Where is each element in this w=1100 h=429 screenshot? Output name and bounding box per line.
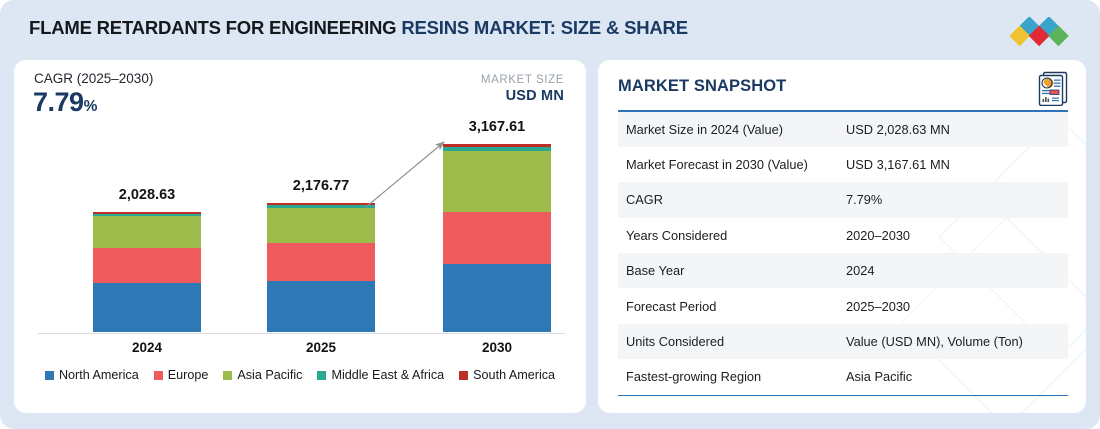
table-row: Years Considered2020–2030 — [618, 218, 1068, 253]
legend-swatch-icon — [459, 371, 468, 380]
table-cell-key: Years Considered — [618, 228, 846, 243]
bar-segment-north-america[interactable] — [443, 264, 551, 332]
table-row: Forecast Period2025–2030 — [618, 288, 1068, 323]
table-cell-key: Fastest-growing Region — [618, 369, 846, 384]
table-bottom-rule — [618, 395, 1068, 397]
header-bar: FLAME RETARDANTS FOR ENGINEERING RESINS … — [0, 0, 1100, 58]
table-cell-value: USD 2,028.63 MN — [846, 122, 1068, 137]
bar-segment-asia-pacific[interactable] — [267, 208, 375, 243]
table-cell-value: 2024 — [846, 263, 1068, 278]
bar-total-label-2025: 2,176.77 — [251, 178, 391, 194]
bar-segment-north-america[interactable] — [267, 281, 375, 332]
chart-card: CAGR (2025–2030) 7.79% MARKET SIZE USD M… — [14, 60, 586, 413]
x-axis-tick-2030: 2030 — [447, 340, 547, 355]
legend-item-north-america[interactable]: North America — [45, 368, 139, 382]
table-cell-key: Market Forecast in 2030 (Value) — [618, 157, 846, 172]
report-document-icon — [1036, 70, 1070, 106]
page-title-blue: RESINS MARKET: SIZE & SHARE — [401, 17, 688, 38]
table-cell-key: Units Considered — [618, 334, 846, 349]
bar-2024[interactable] — [92, 211, 202, 333]
legend-item-middle-east-africa[interactable]: Middle East & Africa — [317, 368, 444, 382]
table-row: CAGR7.79% — [618, 182, 1068, 217]
legend-swatch-icon — [45, 371, 54, 380]
market-snapshot-card: MARKET SNAPSHOT Market Size in 2024 (Val… — [598, 60, 1086, 413]
page-title: FLAME RETARDANTS FOR ENGINEERING RESINS … — [29, 17, 688, 39]
table-cell-value: 2020–2030 — [846, 228, 1068, 243]
bar-segment-north-america[interactable] — [93, 283, 201, 332]
mordor-diamonds-logo-icon — [1004, 17, 1074, 47]
bar-2025[interactable] — [266, 202, 376, 333]
market-infographic: FLAME RETARDANTS FOR ENGINEERING RESINS … — [0, 0, 1100, 429]
table-cell-value: 7.79% — [846, 192, 1068, 207]
page-title-dark: FLAME RETARDANTS FOR ENGINEERING — [29, 17, 401, 38]
bar-2030[interactable] — [442, 143, 552, 333]
legend-item-europe[interactable]: Europe — [154, 368, 209, 382]
table-row: Base Year2024 — [618, 253, 1068, 288]
market-size-unit: USD MN — [506, 88, 564, 104]
table-cell-value: Asia Pacific — [846, 369, 1068, 384]
table-row: Market Forecast in 2030 (Value)USD 3,167… — [618, 147, 1068, 182]
table-cell-key: CAGR — [618, 192, 846, 207]
table-cell-value: USD 3,167.61 MN — [846, 157, 1068, 172]
legend-label: North America — [59, 368, 139, 382]
table-cell-value: Value (USD MN), Volume (Ton) — [846, 334, 1068, 349]
bar-segment-asia-pacific[interactable] — [93, 216, 201, 248]
bar-total-label-2024: 2,028.63 — [77, 187, 217, 203]
legend-swatch-icon — [154, 371, 163, 380]
legend-swatch-icon — [223, 371, 232, 380]
table-row: Market Size in 2024 (Value)USD 2,028.63 … — [618, 112, 1068, 147]
legend-label: Middle East & Africa — [331, 368, 444, 382]
bar-segment-europe[interactable] — [443, 212, 551, 264]
bar-segment-europe[interactable] — [267, 243, 375, 281]
legend-item-south-america[interactable]: South America — [459, 368, 555, 382]
table-row: Fastest-growing RegionAsia Pacific — [618, 359, 1068, 394]
table-cell-key: Forecast Period — [618, 299, 846, 314]
bar-segment-europe[interactable] — [93, 248, 201, 283]
x-axis-tick-2024: 2024 — [97, 340, 197, 355]
market-size-label: MARKET SIZE — [481, 74, 564, 86]
snapshot-title: MARKET SNAPSHOT — [618, 77, 786, 96]
legend-item-asia-pacific[interactable]: Asia Pacific — [223, 368, 302, 382]
bar-total-label-2030: 3,167.61 — [427, 119, 567, 135]
x-axis-line — [38, 333, 565, 334]
legend-label: South America — [473, 368, 555, 382]
table-cell-key: Base Year — [618, 263, 846, 278]
legend-label: Europe — [168, 368, 209, 382]
snapshot-table: Market Size in 2024 (Value)USD 2,028.63 … — [618, 110, 1068, 396]
x-axis-tick-2025: 2025 — [271, 340, 371, 355]
chart-legend: North AmericaEuropeAsia PacificMiddle Ea… — [14, 368, 586, 382]
table-cell-value: 2025–2030 — [846, 299, 1068, 314]
legend-swatch-icon — [317, 371, 326, 380]
bar-segment-asia-pacific[interactable] — [443, 151, 551, 211]
table-row: Units ConsideredValue (USD MN), Volume (… — [618, 324, 1068, 359]
cagr-label: CAGR (2025–2030) — [34, 71, 153, 86]
legend-label: Asia Pacific — [237, 368, 302, 382]
stacked-bar-chart: 2,028.6320242,176.7720253,167.612030 — [14, 112, 586, 334]
table-cell-key: Market Size in 2024 (Value) — [618, 122, 846, 137]
